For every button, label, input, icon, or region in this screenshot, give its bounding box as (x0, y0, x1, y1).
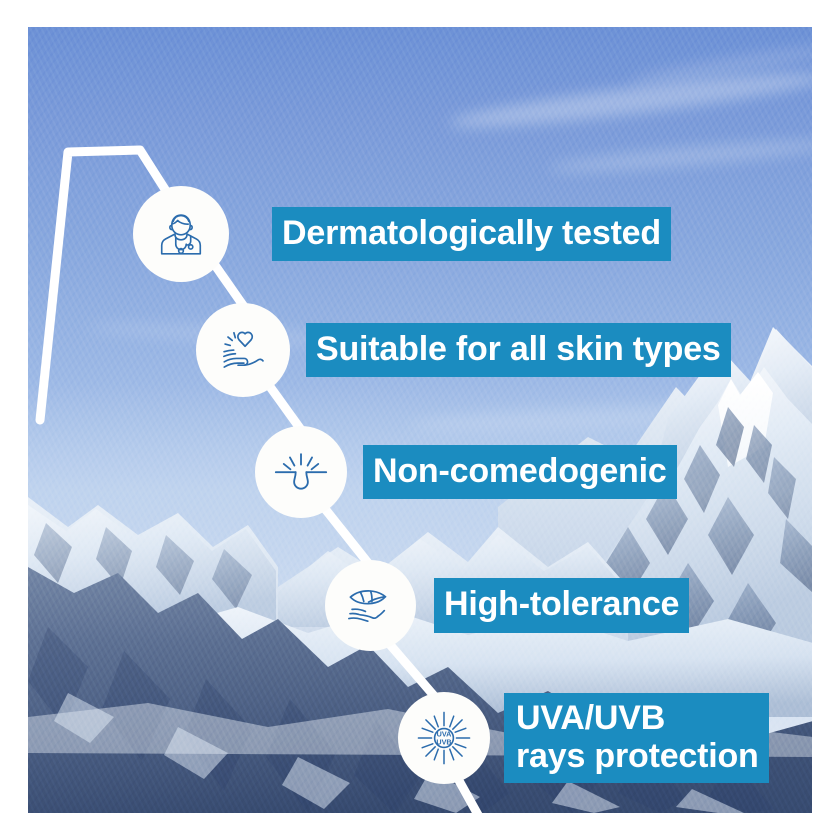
feature-label: Dermatologically tested (272, 207, 671, 261)
uvb-label: UVB (436, 737, 451, 746)
feature-row-non-comedogenic[interactable]: Non-comedogenic (255, 426, 677, 518)
feature-row-suitable-for-all-skin-types[interactable]: Suitable for all skin types (196, 303, 731, 397)
feature-row-uva-uvb-rays-protection[interactable]: UVA UVB UVA/UVB rays protection (398, 692, 769, 784)
feature-row-dermatologically-tested[interactable]: Dermatologically tested (133, 186, 671, 282)
hand-heart-icon (196, 303, 290, 397)
feature-label: Suitable for all skin types (306, 323, 731, 377)
feature-row-high-tolerance[interactable]: High-tolerance (325, 560, 689, 651)
hand-leaf-icon (325, 560, 416, 651)
sun-uva-uvb-icon: UVA UVB (398, 692, 490, 784)
doctor-stethoscope-icon (133, 186, 229, 282)
feature-label: High-tolerance (434, 578, 689, 632)
skin-pore-icon (255, 426, 347, 518)
feature-label: Non-comedogenic (363, 445, 677, 499)
feature-label: UVA/UVB rays protection (504, 693, 769, 784)
product-feature-infographic: Dermatologically tested Suitable for all… (0, 0, 840, 840)
